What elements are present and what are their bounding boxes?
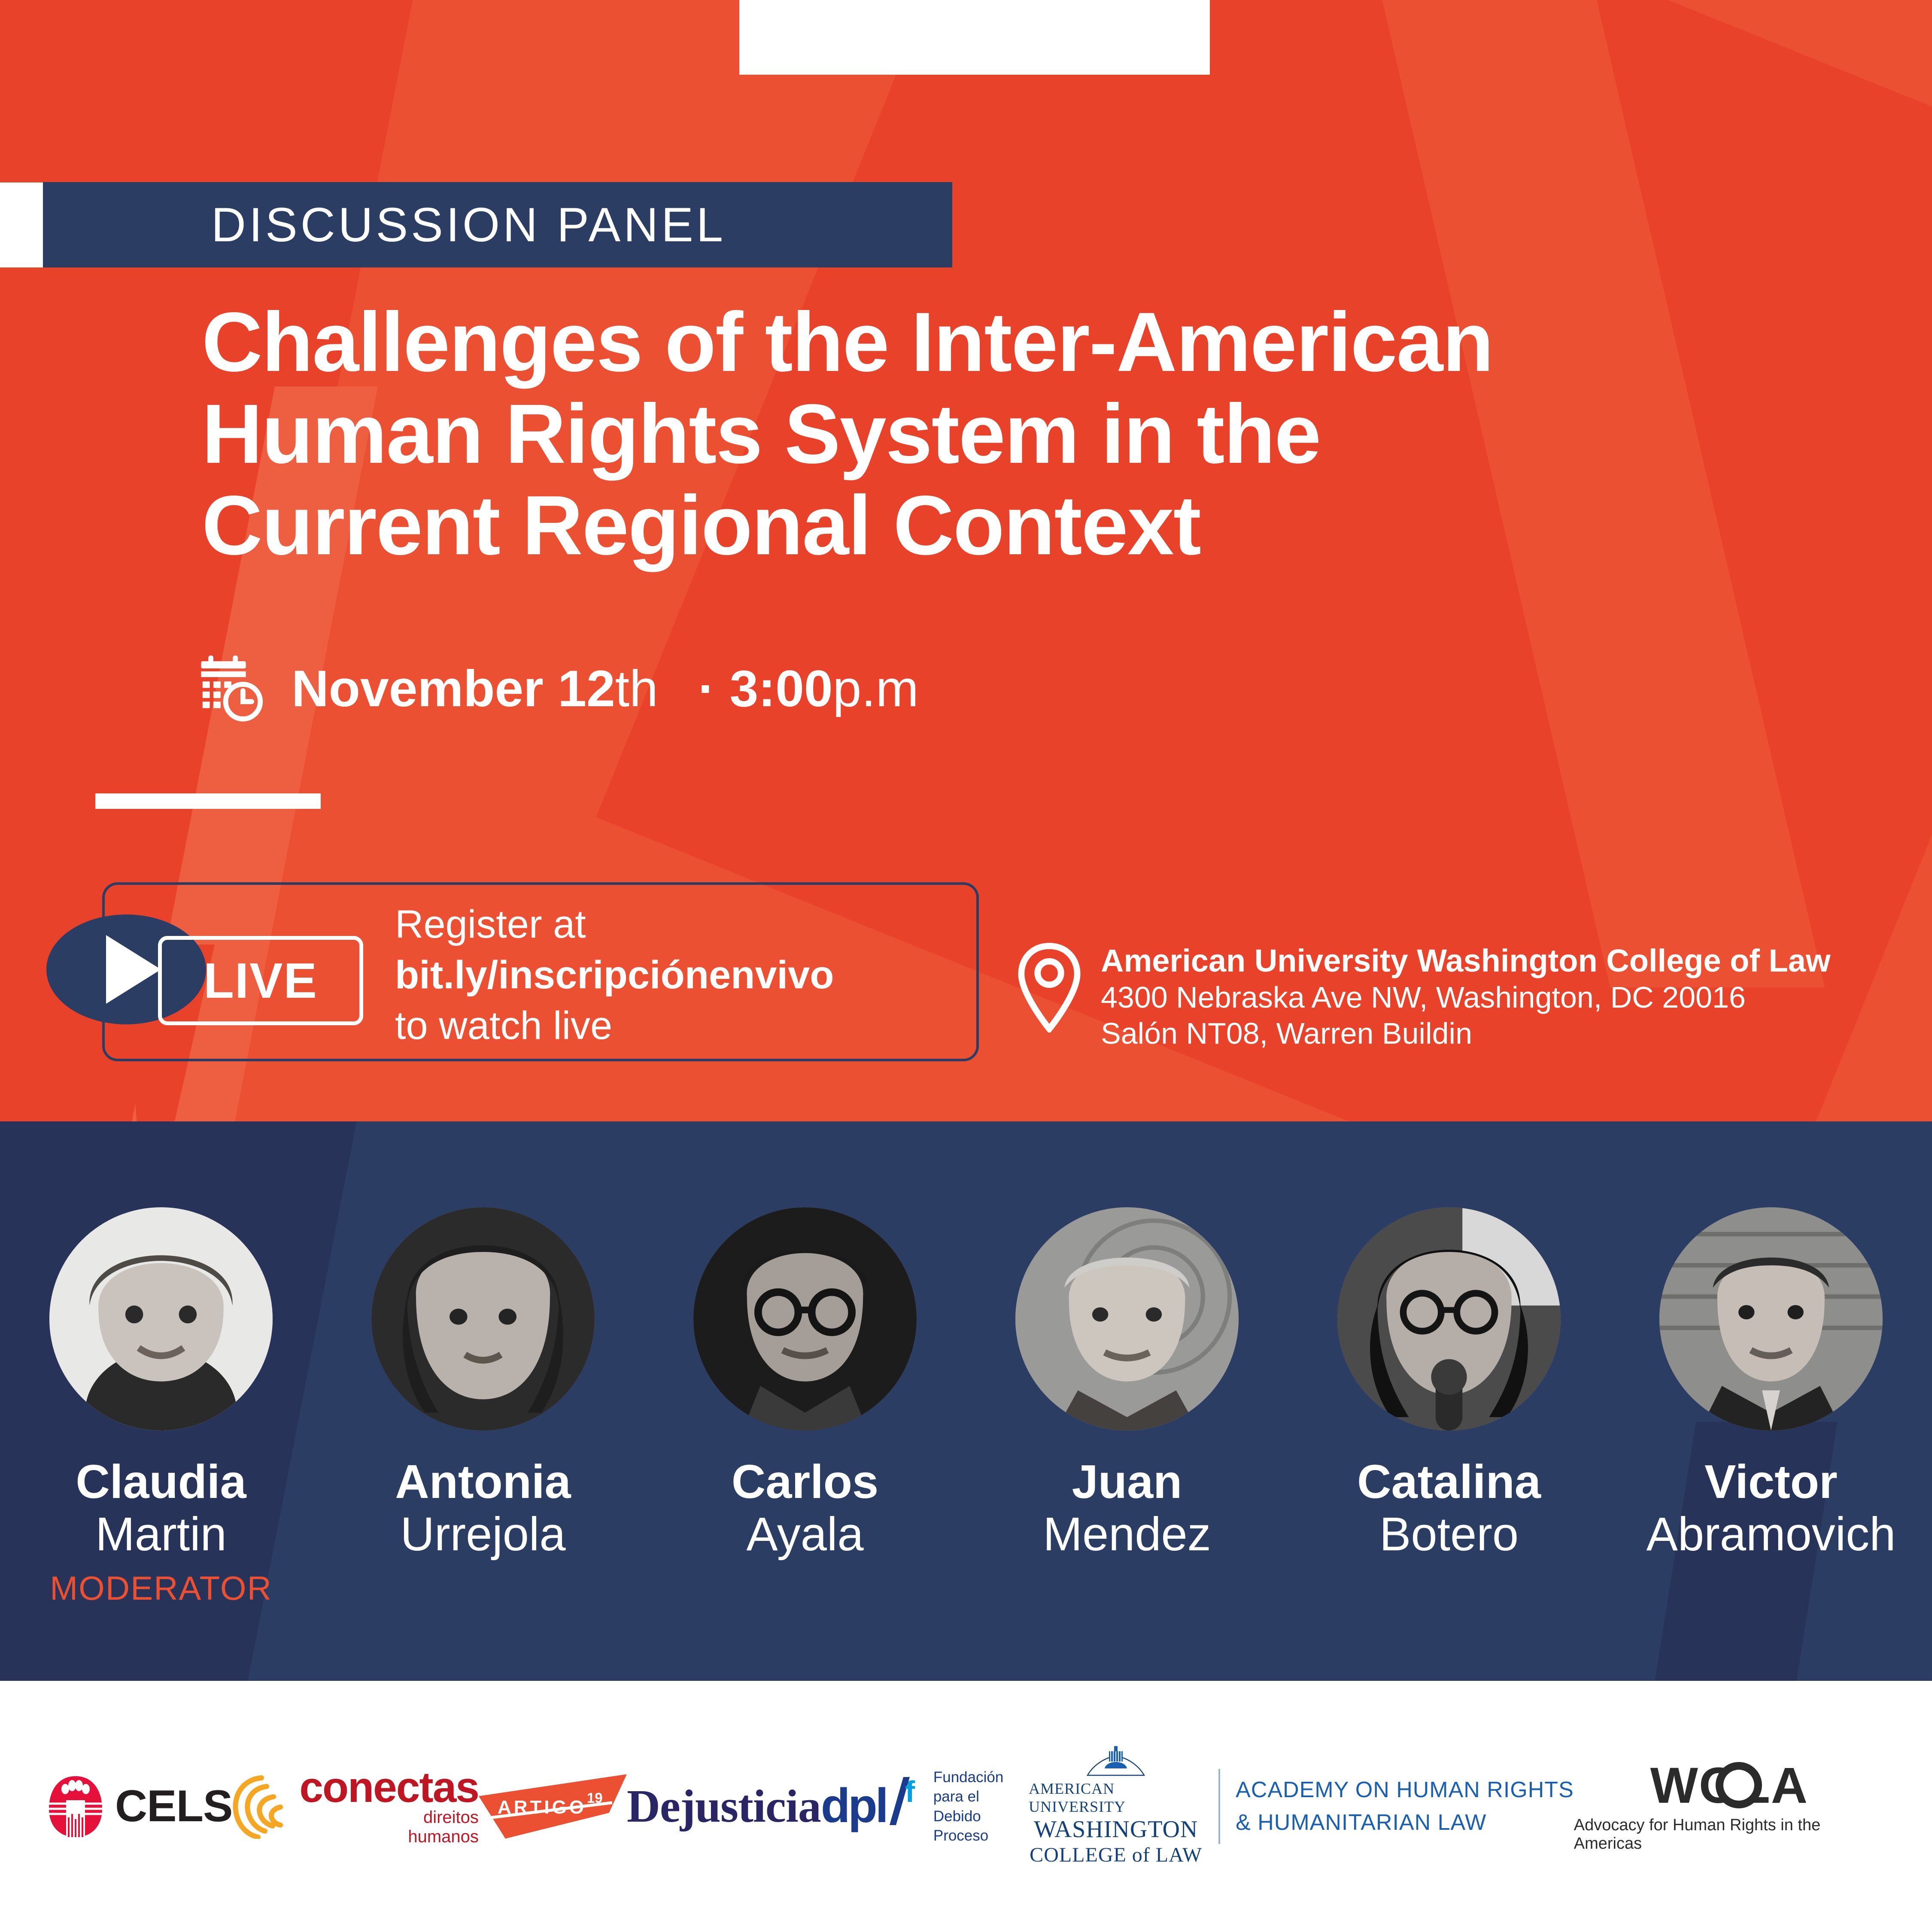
academy-line-1: ACADEMY ON HUMAN RIGHTS [1236,1774,1574,1806]
avatar [693,1207,917,1431]
live-badge-label: LIVE [204,952,318,1009]
conectas-tagline-1: direitos [299,1808,479,1827]
speaker-last-name: Urrejola [400,1507,565,1561]
avatar [1659,1207,1883,1431]
au-wcl-mark: AMERICAN UNIVERSITY WASHINGTON COLLEGE o… [1029,1746,1203,1867]
play-triangle [106,935,161,1004]
speaker-last-name: Ayala [746,1507,863,1561]
academy-wordmark: ACADEMY ON HUMAN RIGHTS & HUMANITARIAN L… [1236,1774,1574,1839]
wola-seal-icon [1716,1762,1762,1808]
conectas-swirl-icon [232,1774,292,1839]
speaker-card: Carlos Ayala [644,1207,966,1569]
dejusticia-wordmark: Dejusticia [627,1780,821,1833]
avatar [1337,1207,1561,1431]
event-date: November 12 [292,660,615,717]
dplf-wordmark: dpl [821,1778,887,1833]
calendar-clock-icon [195,653,267,725]
register-url[interactable]: bit.ly/inscripciónenvivo [395,950,953,1001]
venue-block: American University Washington College o… [1018,942,1831,1051]
speaker-first-name: Carlos [732,1457,878,1507]
speaker-card: Juan Mendez [966,1207,1288,1569]
event-poster: DISCUSSION PANEL Challenges of the Inter… [0,0,1932,1932]
cels-shield-icon [47,1774,104,1839]
speaker-first-name: Antonia [395,1457,571,1507]
map-pin-icon [1018,942,1081,1033]
wola-wordmark: WOLA [1650,1760,1808,1811]
speaker-card: Catalina Botero [1288,1207,1610,1569]
logo-wola: WOLA Advocacy for Human Rights in the Am… [1574,1760,1885,1853]
logo-dejusticia: Dejusticia [627,1780,821,1833]
conectas-tagline-2: humanos [299,1827,479,1847]
top-white-notch [739,0,1210,75]
banner-left-tab [0,182,43,267]
cels-wordmark: CELS [115,1781,232,1832]
avatar [49,1207,273,1431]
speaker-card: Victor Abramovich [1610,1207,1932,1569]
title-line-1: Challenges of the Inter-American [202,296,1833,388]
venue-address: American University Washington College o… [1101,942,1831,1051]
speaker-first-name: Claudia [76,1457,246,1507]
event-time-suffix: p.m [833,660,919,717]
event-datetime: November 12th · 3:00p.m [292,659,919,718]
dplf-tagline-2: para el Debido [933,1787,1029,1826]
sponsor-logo-bar: CELS conectas direitos humanos [0,1681,1932,1932]
register-line-3: to watch live [395,1001,953,1051]
register-line-1: Register at [395,899,953,950]
banner-label: DISCUSSION PANEL [211,197,726,252]
title-line-2: Human Rights System in the [202,388,1833,480]
dplf-tagline: Fundación para el Debido Proceso [933,1768,1029,1846]
venue-street: 4300 Nebraska Ave NW, Washington, DC 200… [1101,979,1831,1015]
au-divider [1218,1769,1220,1844]
avatar [1015,1207,1239,1431]
dplf-tagline-1: Fundación [933,1768,1029,1787]
artigo19-wordmark: ARTIGO [498,1797,586,1818]
artigo19-mark: ARTIGO 19 [479,1774,627,1839]
speaker-card: Antonia Urrejola [322,1207,644,1569]
title-divider-rule [95,793,321,809]
au-line-2: WASHINGTON [1034,1816,1198,1843]
conectas-wordmark-block: conectas direitos humanos [299,1767,479,1847]
avatar [371,1207,595,1431]
title-line-3: Current Regional Context [202,480,1833,571]
speaker-card: Claudia Martin MODERATOR [0,1207,322,1608]
register-instructions: Register at bit.ly/inscripciónenvivo to … [395,899,953,1051]
speaker-last-name: Abramovich [1646,1507,1896,1561]
date-time-separator: · [698,660,715,717]
dplf-f-letter: f [905,1774,915,1809]
speaker-last-name: Martin [95,1507,227,1561]
speaker-first-name: Victor [1704,1457,1838,1507]
capitol-dome-icon [1086,1746,1146,1777]
dplf-mark: dpl f [821,1774,926,1839]
speaker-role-badge: MODERATOR [50,1569,272,1608]
event-time: 3:00 [729,660,832,717]
logo-au-wcl: AMERICAN UNIVERSITY WASHINGTON COLLEGE o… [1029,1746,1574,1867]
wola-tagline: Advocacy for Human Rights in the America… [1574,1816,1885,1853]
speaker-last-name: Mendez [1043,1507,1211,1561]
live-badge: LIVE [158,936,363,1025]
logo-cels: CELS [47,1774,232,1839]
academy-line-2: & HUMANITARIAN LAW [1236,1807,1574,1839]
speaker-first-name: Juan [1072,1457,1182,1507]
venue-room: Salón NT08, Warren Buildin [1101,1015,1831,1051]
event-date-row: November 12th · 3:00p.m [195,653,919,725]
au-line-3: COLLEGE of LAW [1030,1843,1202,1867]
dplf-tagline-3: Proceso [933,1826,1029,1846]
speaker-last-name: Botero [1379,1507,1519,1561]
logo-conectas: conectas direitos humanos [232,1767,479,1847]
logo-dplf: dpl f Fundación para el Debido Proceso [821,1768,1029,1846]
artigo19-superscript: 19 [587,1790,603,1806]
speaker-first-name: Catalina [1357,1457,1541,1507]
event-date-suffix: th [615,660,658,717]
venue-name: American University Washington College o… [1101,942,1831,979]
speakers-section: Claudia Martin MODERATOR [0,1121,1932,1681]
page-title: Challenges of the Inter-American Human R… [202,296,1833,571]
discussion-panel-banner: DISCUSSION PANEL [43,182,952,267]
logo-artigo19: ARTIGO 19 [479,1774,627,1839]
speakers-grid: Claudia Martin MODERATOR [0,1121,1932,1681]
conectas-wordmark: conectas [299,1767,479,1808]
au-line-1: AMERICAN UNIVERSITY [1029,1780,1203,1816]
